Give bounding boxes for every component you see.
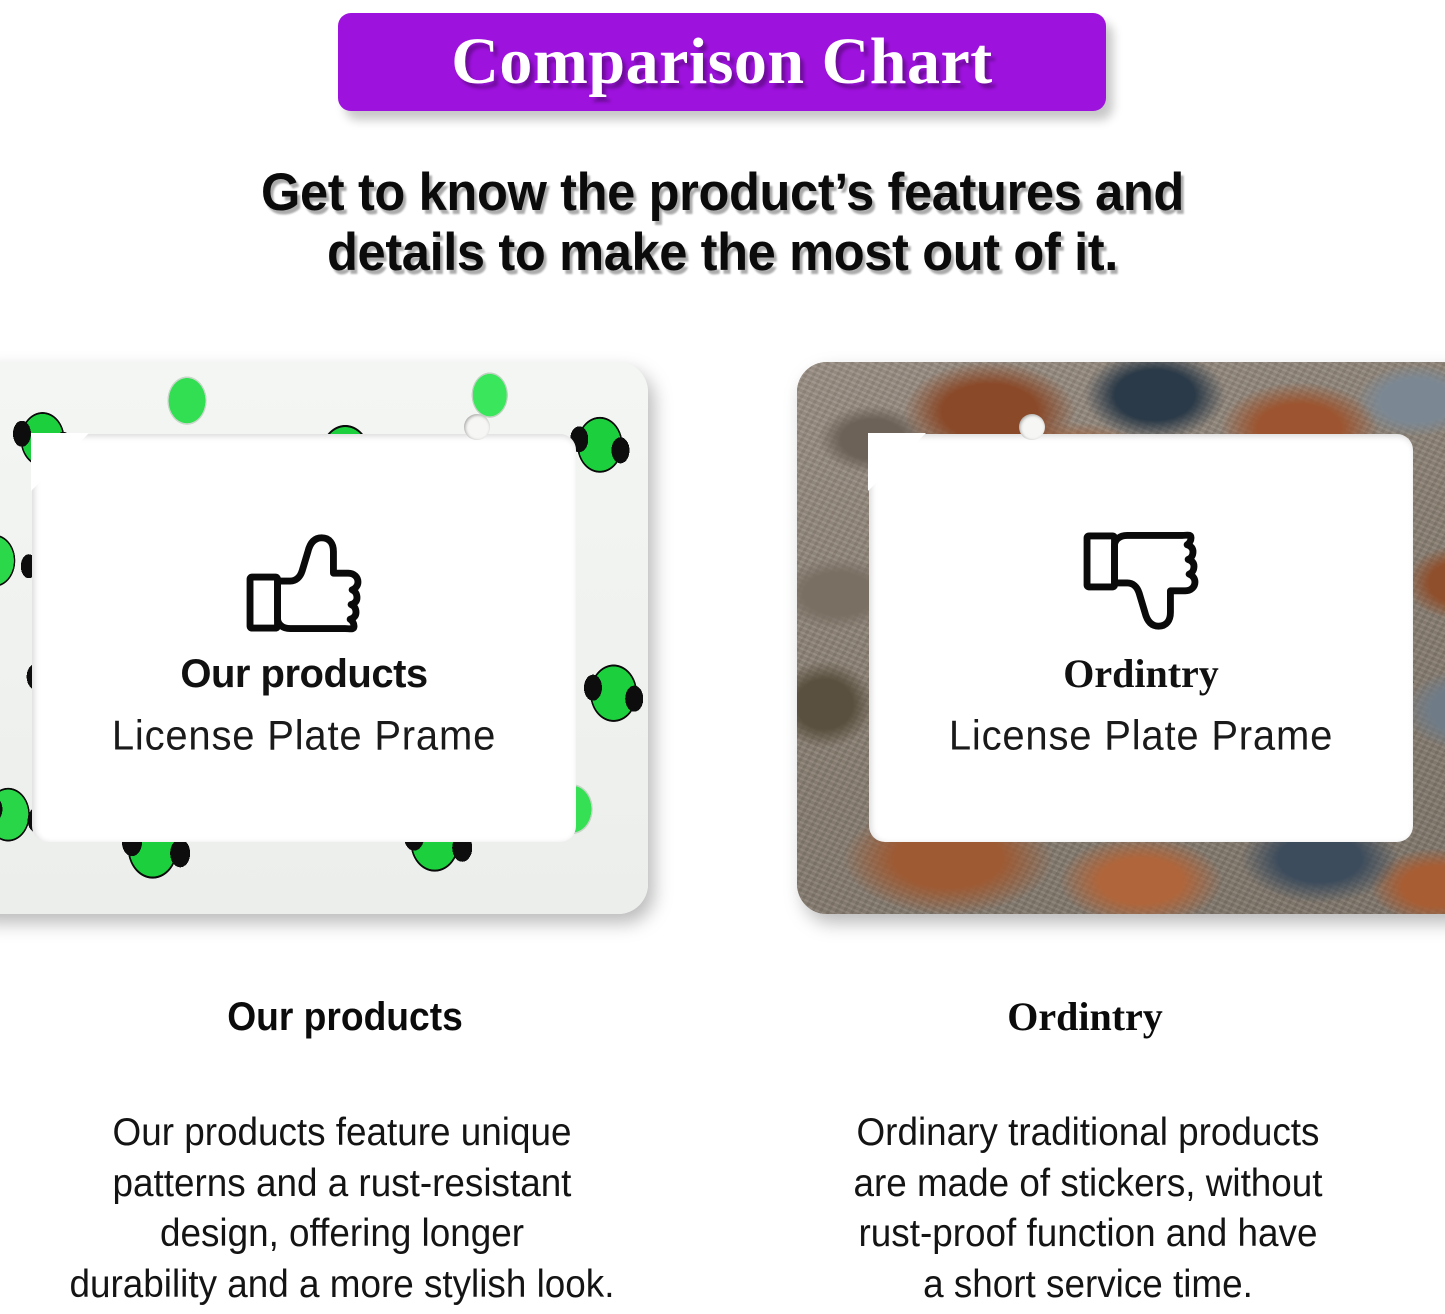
- license-plate-frame-rusty: Ordintry License Plate Prame: [797, 362, 1445, 914]
- caption-heading-our-products: Our products: [24, 997, 666, 1037]
- caption-body-ordinary: Ordinary traditional products are made o…: [757, 1108, 1419, 1311]
- page-subtitle: Get to know the product’s features and d…: [33, 163, 1413, 284]
- page-title: Comparison Chart: [451, 29, 993, 95]
- thumbs-down-icon: [1082, 530, 1200, 634]
- panel-title-right: Ordintry: [1063, 654, 1219, 694]
- panel-title-left: Our products: [180, 654, 427, 694]
- panel-content-right: Ordintry License Plate Prame: [869, 434, 1413, 842]
- panel-subtitle-left: License Plate Prame: [112, 715, 496, 757]
- subtitle-line-2: details to make the most out of it.: [33, 223, 1413, 283]
- caption-line: patterns and a rust-resistant: [11, 1159, 673, 1210]
- caption-body-our-products: Our products feature unique patterns and…: [11, 1108, 673, 1311]
- caption-line: Ordinary traditional products: [757, 1108, 1419, 1159]
- caption-line: a short service time.: [757, 1260, 1419, 1311]
- caption-line: are made of stickers, without: [757, 1159, 1419, 1210]
- caption-heading-ordinary: Ordintry: [740, 997, 1430, 1037]
- license-plate-frame-alien: Our products License Plate Prame: [0, 362, 648, 914]
- caption-line: design, offering longer: [11, 1209, 673, 1260]
- caption-line: durability and a more stylish look.: [11, 1260, 673, 1311]
- caption-line: Our products feature unique: [11, 1108, 673, 1159]
- comparison-panel-our-products: Our products License Plate Prame: [0, 362, 648, 914]
- thumbs-up-icon: [245, 530, 363, 634]
- subtitle-line-1: Get to know the product’s features and: [33, 163, 1413, 223]
- panel-subtitle-right: License Plate Prame: [949, 715, 1333, 757]
- panel-content-left: Our products License Plate Prame: [32, 434, 576, 842]
- comparison-panel-ordinary: Ordintry License Plate Prame: [797, 362, 1445, 914]
- caption-line: rust-proof function and have: [757, 1209, 1419, 1260]
- comparison-chart-banner: Comparison Chart: [338, 13, 1106, 111]
